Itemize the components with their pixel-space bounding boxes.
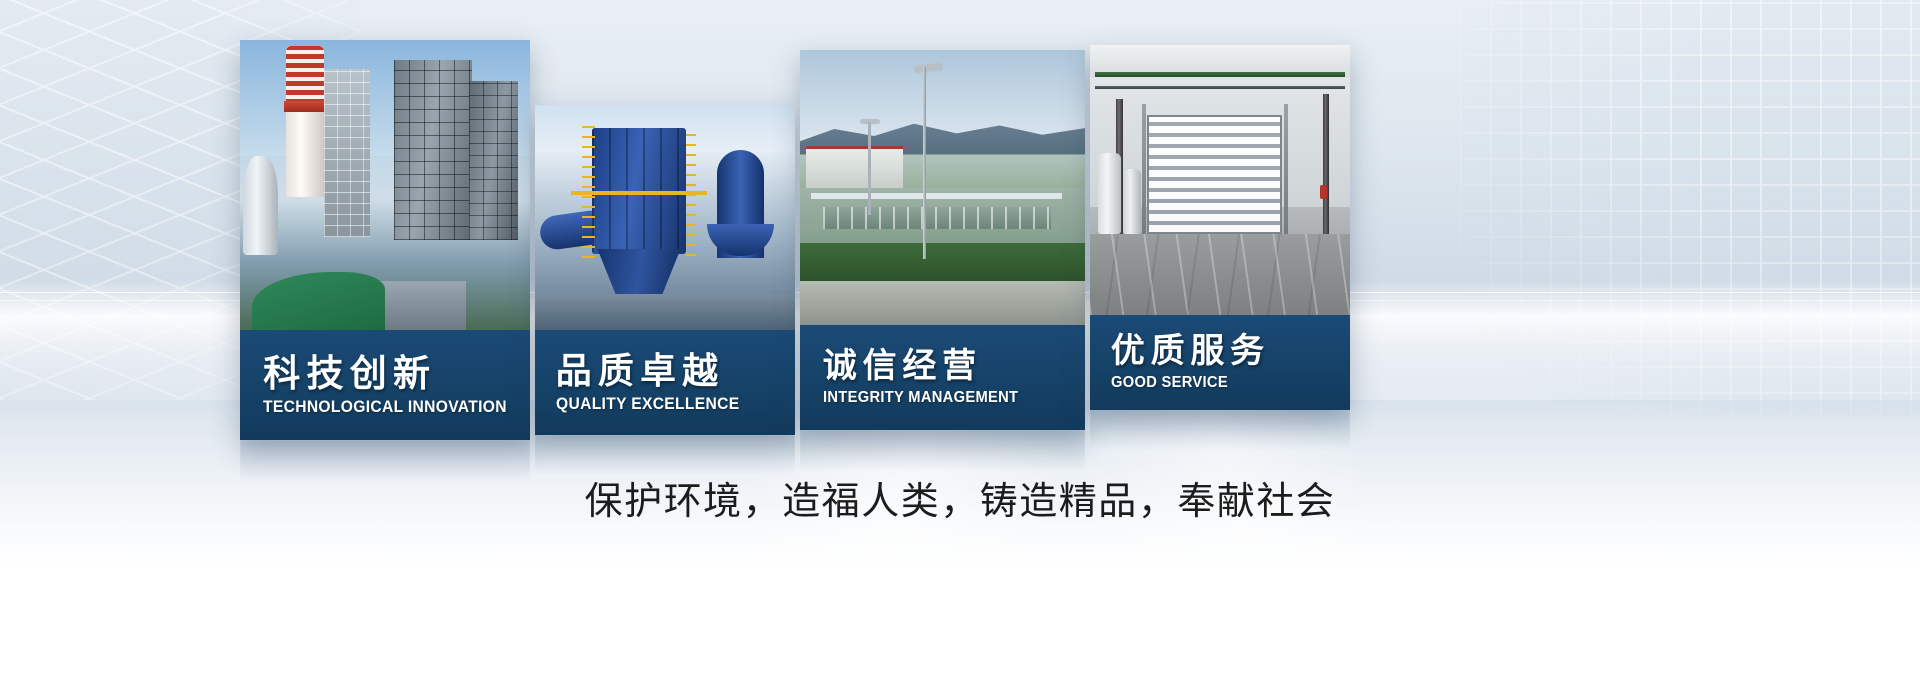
panel-1-caption-band: 科技创新 TECHNOLOGICAL INNOVATION <box>240 330 530 440</box>
banner-tagline: 保护环境，造福人类，铸造精品，奉献社会 <box>0 470 1920 525</box>
panel-2-caption-band: 品质卓越 QUALITY EXCELLENCE <box>535 330 795 435</box>
panel-group: 科技创新 TECHNOLOGICAL INNOVATION 品质卓越 QUALI… <box>0 0 1920 700</box>
panel-good-service[interactable]: 优质服务 GOOD SERVICE <box>1090 45 1350 410</box>
panel-4-title-cn: 优质服务 <box>1111 334 1350 368</box>
panel-4-title-en: GOOD SERVICE <box>1111 375 1331 391</box>
panel-3-title-cn: 诚信经营 <box>823 349 1085 383</box>
panel-integrity-management[interactable]: 诚信经营 INTEGRITY MANAGEMENT <box>800 50 1085 430</box>
ro-membrane-water-room-photo <box>1090 45 1350 315</box>
sewage-treatment-plant-photo <box>800 50 1085 325</box>
panel-2-title-en: QUALITY EXCELLENCE <box>556 395 776 412</box>
panel-1-title-cn: 科技创新 <box>263 355 530 392</box>
panel-2-title-cn: 品质卓越 <box>556 353 795 389</box>
panel-4-caption-band: 优质服务 GOOD SERVICE <box>1090 315 1350 410</box>
panel-technological-innovation[interactable]: 科技创新 TECHNOLOGICAL INNOVATION <box>240 40 530 440</box>
boiler-chimney-plant-photo <box>240 40 530 330</box>
panel-1-title-en: TECHNOLOGICAL INNOVATION <box>263 398 508 415</box>
panel-3-title-en: INTEGRITY MANAGEMENT <box>823 390 1064 406</box>
panel-3-caption-band: 诚信经营 INTEGRITY MANAGEMENT <box>800 325 1085 430</box>
blue-dust-collector-photo <box>535 105 795 330</box>
panel-4-reflection <box>1090 410 1350 465</box>
panel-quality-excellence[interactable]: 品质卓越 QUALITY EXCELLENCE <box>535 105 795 435</box>
